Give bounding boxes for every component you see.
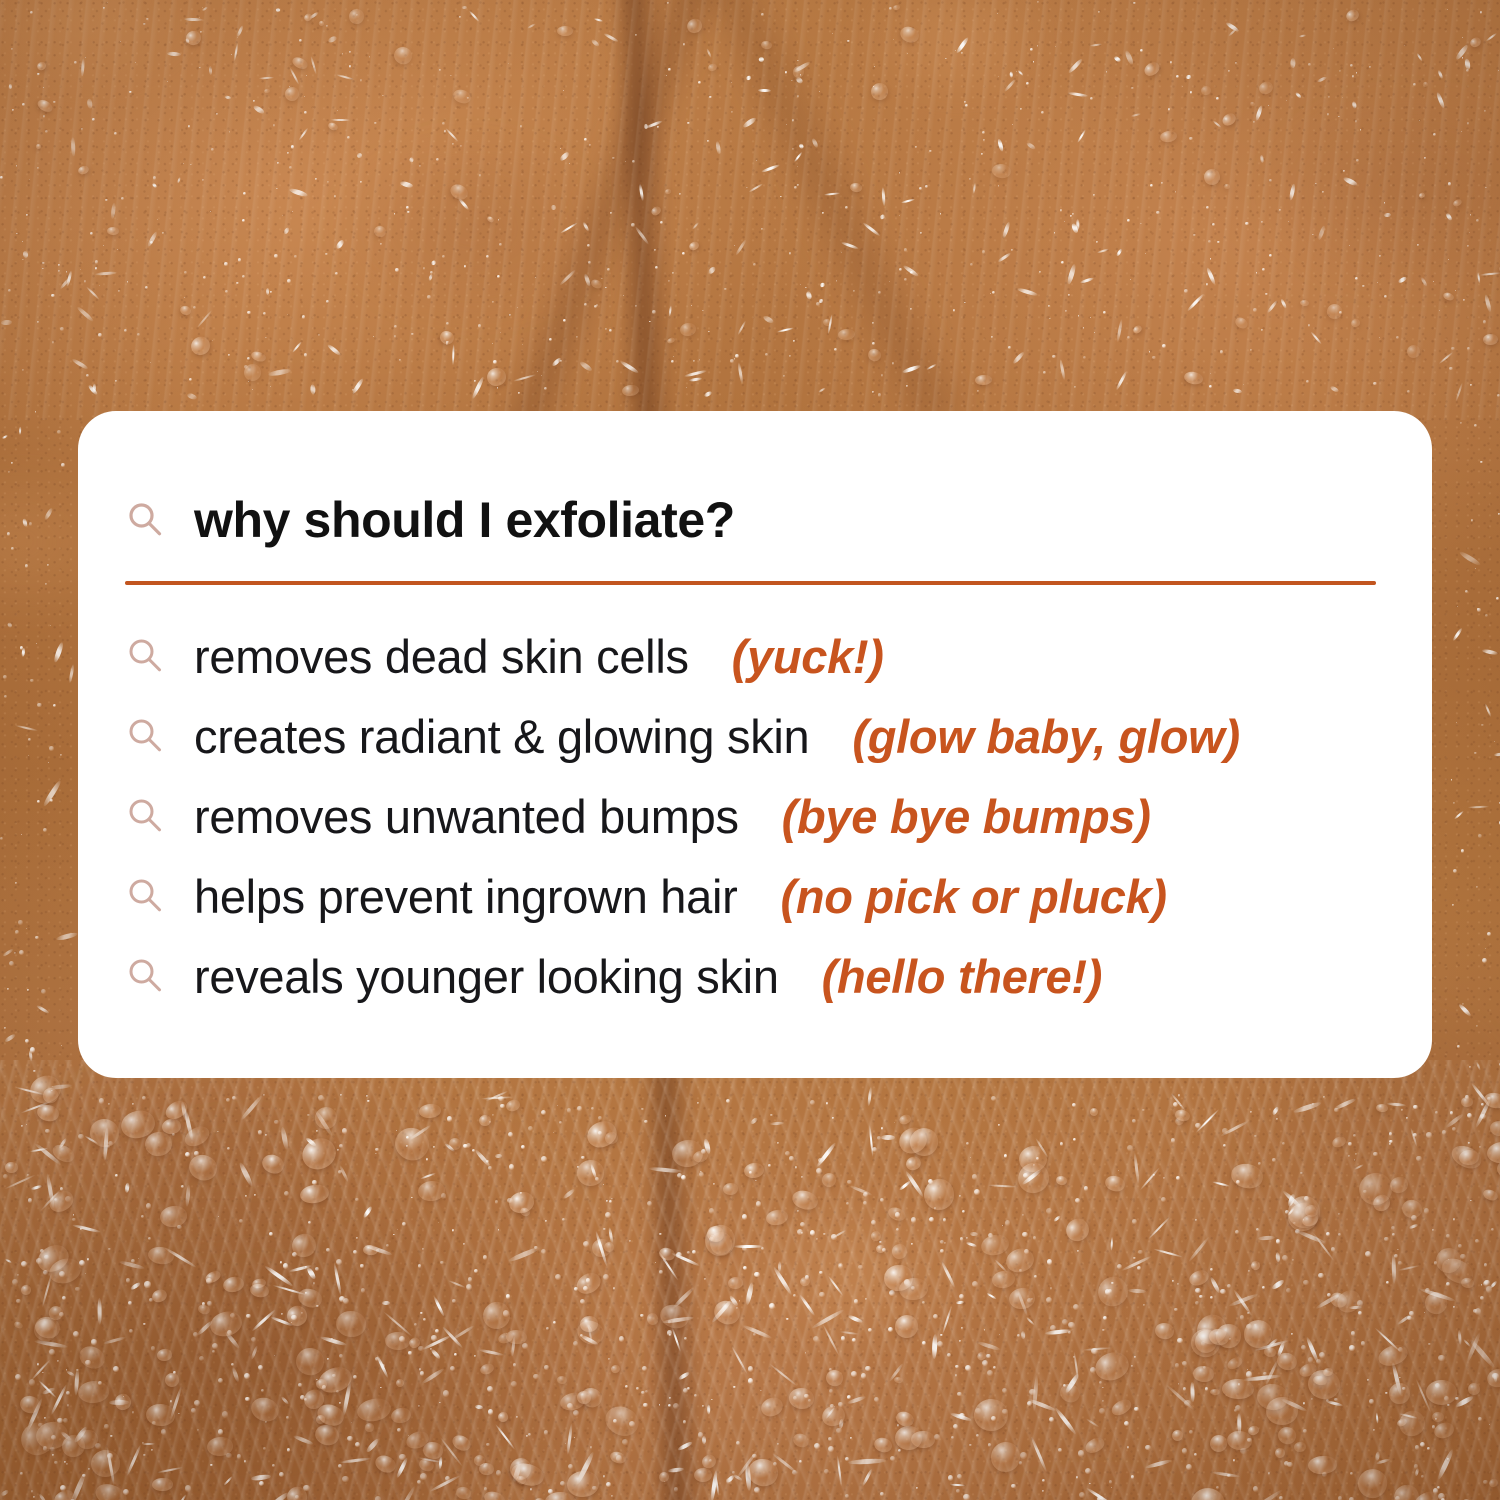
info-card: why should I exfoliate? removes dead ski… <box>78 411 1432 1078</box>
benefit-text: creates radiant & glowing skin <box>194 713 809 760</box>
benefit-text: helps prevent ingrown hair <box>194 873 737 920</box>
screenshot-root: why should I exfoliate? removes dead ski… <box>0 0 1500 1500</box>
benefit-note: (yuck!) <box>732 633 884 680</box>
list-item: reveals younger looking skin (hello ther… <box>125 936 1392 1016</box>
search-icon <box>125 636 165 676</box>
benefit-note: (glow baby, glow) <box>852 713 1239 760</box>
benefit-text: removes unwanted bumps <box>194 793 739 840</box>
search-icon <box>125 716 165 756</box>
page-title: why should I exfoliate? <box>194 495 735 545</box>
card-heading: why should I exfoliate? <box>125 495 735 545</box>
list-item: creates radiant & glowing skin (glow bab… <box>125 696 1392 776</box>
benefit-note: (bye bye bumps) <box>782 793 1151 840</box>
heading-divider <box>125 581 1376 585</box>
search-icon <box>125 796 165 836</box>
benefit-note: (hello there!) <box>822 953 1102 1000</box>
list-item: removes dead skin cells (yuck!) <box>125 616 1392 696</box>
skin-wet-sheen-lower <box>0 1060 1500 1500</box>
benefit-note: (no pick or pluck) <box>780 873 1166 920</box>
skin-sheen-upper <box>0 0 1500 420</box>
benefit-text: removes dead skin cells <box>194 633 689 680</box>
search-icon <box>125 956 165 996</box>
benefit-text: reveals younger looking skin <box>194 953 779 1000</box>
search-icon <box>125 500 165 540</box>
benefits-list: removes dead skin cells (yuck!) creates … <box>125 616 1392 1016</box>
search-icon <box>125 876 165 916</box>
list-item: helps prevent ingrown hair (no pick or p… <box>125 856 1392 936</box>
list-item: removes unwanted bumps (bye bye bumps) <box>125 776 1392 856</box>
